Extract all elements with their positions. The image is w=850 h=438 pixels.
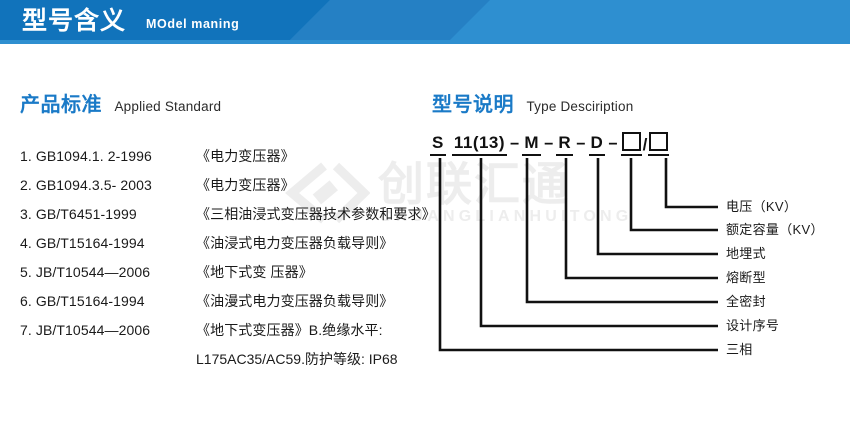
empty-box-icon bbox=[622, 132, 641, 151]
leader-label-capacity: 额定容量（KV） bbox=[726, 222, 824, 238]
type-description-heading: 型号说明 Type Desciription bbox=[432, 88, 633, 117]
standard-continuation-line: L175AC35/AC59.防护等级: IP68 bbox=[20, 349, 420, 378]
standard-title: 《三相油浸式变压器技术参数和要求》 bbox=[196, 204, 436, 224]
leader-label-sealed: 全密封 bbox=[726, 294, 766, 310]
standard-code: 6. GB/T15164-1994 bbox=[20, 293, 196, 309]
model-code-segment-voltage-box bbox=[648, 132, 669, 156]
standard-code: 4. GB/T15164-1994 bbox=[20, 235, 196, 251]
leader-label-fuse: 熔断型 bbox=[726, 270, 766, 286]
standard-title: 《电力变压器》 bbox=[196, 175, 295, 195]
model-code-segment-capacity-box bbox=[621, 132, 642, 156]
leader-label-design-no: 设计序号 bbox=[726, 318, 779, 334]
applied-standard-heading-cn: 产品标准 bbox=[20, 94, 102, 116]
standard-title: 《油浸式电力变压器负载导则》 bbox=[196, 233, 393, 253]
model-code-segment-buried: D bbox=[589, 132, 606, 156]
model-code-dash: − bbox=[541, 134, 556, 156]
list-item: 5. JB/T10544—2006 《地下式变 压器》 bbox=[20, 262, 420, 291]
type-description-heading-en: Type Desciription bbox=[526, 99, 633, 114]
standard-code: 2. GB1094.3.5- 2003 bbox=[20, 177, 196, 193]
standard-code: 5. JB/T10544—2006 bbox=[20, 264, 196, 280]
model-code-segment-sealed: M bbox=[522, 132, 541, 156]
model-code-slash: / bbox=[642, 134, 649, 156]
model-code-segment-series: S bbox=[430, 132, 446, 156]
model-code-dash: − bbox=[605, 134, 620, 156]
banner-title-chinese: 型号含义 bbox=[22, 6, 126, 36]
standard-title: 《电力变压器》 bbox=[196, 146, 295, 166]
model-code-segment-fuse: R bbox=[556, 132, 573, 156]
list-item: 4. GB/T15164-1994 《油浸式电力变压器负载导则》 bbox=[20, 233, 420, 262]
leader-label-three-phase: 三相 bbox=[726, 342, 753, 358]
empty-box-icon bbox=[649, 132, 668, 151]
list-item: 3. GB/T6451-1999 《三相油浸式变压器技术参数和要求》 bbox=[20, 204, 420, 233]
page-header-banner: 型号含义 MOdel maning bbox=[0, 0, 850, 46]
standard-code: 1. GB1094.1. 2-1996 bbox=[20, 148, 196, 164]
list-item: 7. JB/T10544—2006 《地下式变压器》B.绝缘水平: bbox=[20, 320, 420, 349]
standard-title: 《油漫式电力变压器负载导则》 bbox=[196, 291, 393, 311]
standard-code: 3. GB/T6451-1999 bbox=[20, 206, 196, 222]
leader-label-voltage: 电压（KV） bbox=[726, 199, 797, 215]
model-code-row: S 11(13) − M − R − D − / bbox=[430, 126, 669, 156]
model-code-segment-design: 11(13) bbox=[452, 132, 507, 156]
list-item: 6. GB/T15164-1994 《油漫式电力变压器负载导则》 bbox=[20, 291, 420, 320]
standard-title: 《地下式变压器》B.绝缘水平: bbox=[196, 320, 383, 340]
type-description-heading-cn: 型号说明 bbox=[432, 94, 514, 116]
applied-standard-heading-en: Applied Standard bbox=[114, 99, 221, 114]
standard-code: 7. JB/T10544—2006 bbox=[20, 322, 196, 338]
applied-standard-heading: 产品标准 Applied Standard bbox=[20, 88, 221, 117]
banner-underline bbox=[0, 40, 850, 44]
banner-title-english: MOdel maning bbox=[146, 16, 239, 32]
leader-label-buried: 地埋式 bbox=[726, 246, 766, 262]
list-item: 1. GB1094.1. 2-1996 《电力变压器》 bbox=[20, 146, 420, 175]
standards-list: 1. GB1094.1. 2-1996 《电力变压器》 2. GB1094.3.… bbox=[20, 146, 420, 378]
standard-title: 《地下式变 压器》 bbox=[196, 262, 313, 282]
model-code-dash: − bbox=[573, 134, 588, 156]
list-item: 2. GB1094.3.5- 2003 《电力变压器》 bbox=[20, 175, 420, 204]
model-code-dash: − bbox=[507, 134, 522, 156]
